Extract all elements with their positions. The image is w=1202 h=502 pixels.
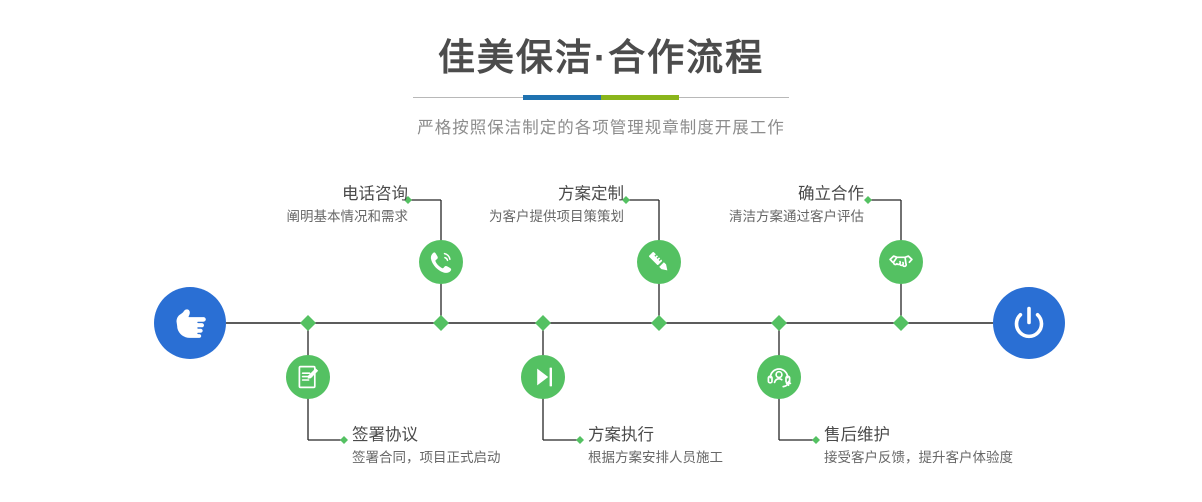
flow-node-step-1[interactable]	[419, 240, 463, 284]
step-desc-3: 为客户提供项目策策划	[489, 207, 624, 227]
power-button-icon	[1007, 301, 1051, 345]
document-edit-icon	[294, 363, 322, 391]
headset-support-icon	[765, 363, 793, 391]
flow-node-step-4[interactable]	[521, 355, 565, 399]
step-title-5: 售后维护	[824, 425, 1013, 446]
pencil-ruler-icon	[645, 248, 673, 276]
step-label-6: 确立合作 清洁方案通过客户评估	[729, 184, 864, 226]
step-title-1: 电话咨询	[287, 184, 409, 205]
flow-node-step-3[interactable]	[637, 240, 681, 284]
step-desc-2: 签署合同，项目正式启动	[352, 448, 501, 468]
step-label-4: 方案执行 根据方案安排人员施工	[588, 425, 723, 467]
step-desc-5: 接受客户反馈，提升客户体验度	[824, 448, 1013, 468]
phone-call-icon	[427, 248, 455, 276]
step-desc-4: 根据方案安排人员施工	[588, 448, 723, 468]
step-label-5: 售后维护 接受客户反馈，提升客户体验度	[824, 425, 1013, 467]
step-label-1: 电话咨询 阐明基本情况和需求	[287, 184, 409, 226]
step-label-3: 方案定制 为客户提供项目策策划	[489, 184, 624, 226]
play-execute-icon	[529, 363, 557, 391]
flow-node-step-6[interactable]	[879, 240, 923, 284]
step-desc-6: 清洁方案通过客户评估	[729, 207, 864, 227]
flow-start-endpoint[interactable]	[154, 287, 226, 359]
flow-node-step-5[interactable]	[757, 355, 801, 399]
step-desc-1: 阐明基本情况和需求	[287, 207, 409, 227]
pointing-hand-icon	[168, 301, 212, 345]
process-flow-diagram: 电话咨询 阐明基本情况和需求 方案定制 为客户提供项目策策划 确立合作 清洁方案…	[0, 0, 1202, 502]
step-title-6: 确立合作	[729, 184, 864, 205]
flow-finish-endpoint[interactable]	[993, 287, 1065, 359]
step-title-3: 方案定制	[489, 184, 624, 205]
step-label-2: 签署协议 签署合同，项目正式启动	[352, 425, 501, 467]
step-title-2: 签署协议	[352, 425, 501, 446]
step-title-4: 方案执行	[588, 425, 723, 446]
flow-node-step-2[interactable]	[286, 355, 330, 399]
handshake-icon	[887, 248, 915, 276]
